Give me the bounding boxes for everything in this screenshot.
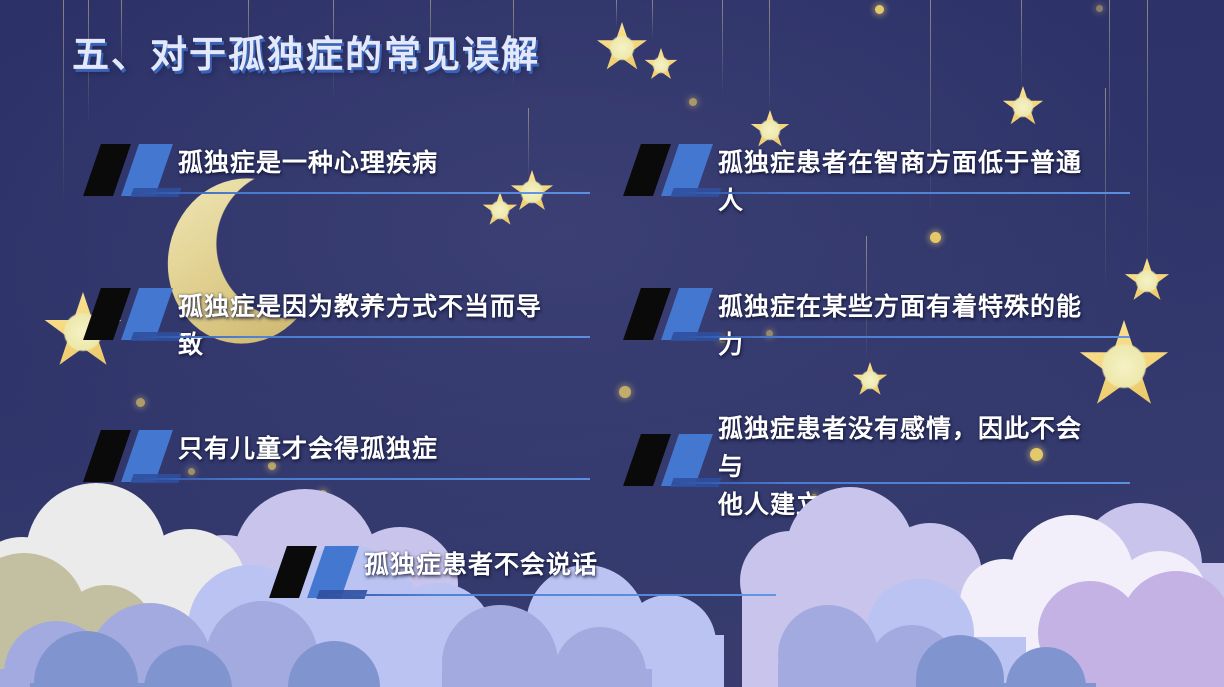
cloud-layer [0,457,1224,687]
star-string [1105,88,1106,284]
star-string [1109,0,1110,160]
page-title: 五、对于孤独症的常见误解 [72,24,540,78]
underline [132,192,590,194]
list-item-label: 孤独症患者在智商方面低于普通人 [718,144,1096,220]
glow-dot [930,232,941,243]
list-item-label: 孤独症患者不会说话 [364,546,598,584]
star-string [1021,0,1022,90]
star-string [769,0,770,112]
glow-dot [136,398,145,407]
star-string [63,0,64,196]
glow-dot [689,98,697,106]
star-icon [852,362,888,398]
slide-canvas: 五、对于孤独症的常见误解 孤独症是一种心理疾病 孤独症患者在智商方面低于普通人 … [0,0,1224,687]
star-string [722,0,723,92]
glow-dot [875,5,884,14]
list-item-label: 孤独症是因为教养方式不当而导致 [178,288,556,364]
cloud-front [0,601,968,687]
underline [672,192,1130,194]
star-icon [1124,258,1170,304]
star-string [652,0,653,38]
glow-dot [619,386,631,398]
list-item-label: 孤独症是一种心理疾病 [178,144,438,182]
glow-dot [1096,5,1103,12]
list-item-label: 孤独症在某些方面有着特殊的能力 [718,288,1096,364]
underline [672,336,1130,338]
star-string [1147,0,1148,266]
star-icon [644,48,678,82]
underline [318,594,776,596]
star-string [528,108,529,178]
star-icon [596,22,648,74]
underline [132,336,590,338]
star-icon [482,192,518,228]
star-icon [1002,86,1044,128]
